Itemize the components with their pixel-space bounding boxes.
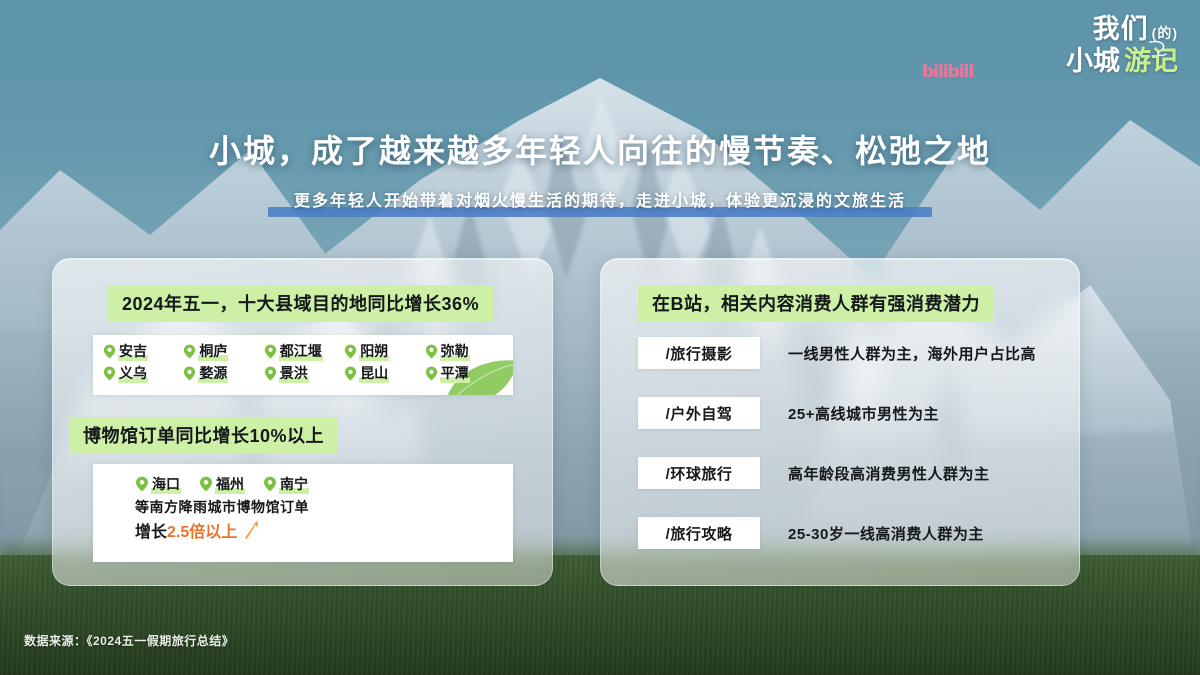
city-chip: 阳朔	[344, 341, 424, 361]
location-pin-icon	[183, 344, 196, 359]
city-name: 安吉	[118, 341, 148, 361]
city-name: 阳朔	[359, 341, 389, 361]
museum-note: 等南方降雨城市博物馆订单	[135, 497, 513, 518]
city-chip: 桐庐	[183, 341, 263, 361]
city-chip: 弥勒	[425, 341, 505, 361]
category-description: 一线男性人群为主，海外用户占比高	[788, 343, 1036, 364]
museum-city-chip: 福州	[199, 474, 245, 494]
audience-row: /环球旅行 高年龄段高消费男性人群为主	[638, 457, 990, 489]
city-name: 义乌	[118, 363, 148, 383]
category-tag: /旅行攻略	[638, 517, 760, 549]
program-logo: bilibili 我们(的) 小城 游记	[1018, 16, 1178, 92]
museum-city-chip: 海口	[135, 474, 181, 494]
city-name: 平潭	[440, 363, 470, 383]
city-chip: 昆山	[344, 363, 424, 383]
location-pin-icon	[344, 366, 357, 381]
logo-women-text: 我们	[1093, 16, 1149, 43]
location-pin-icon	[183, 366, 196, 381]
county-destinations-panel: 安吉 桐庐 都江堰 阳朔 弥勒 义乌 婺源 景洪 昆山 平潭	[93, 335, 513, 395]
bilibili-wordmark: bilibili	[922, 62, 973, 82]
audience-row: /旅行攻略 25-30岁一线高消费人群为主	[638, 517, 984, 549]
right-headline: 在B站，相关内容消费人群有强消费潜力	[638, 285, 994, 322]
subtitle-highlight-bar: 更多年轻人开始带着对烟火慢生活的期待，走进小城，体验更沉浸的文旅生活	[268, 185, 932, 217]
location-pin-icon	[264, 344, 277, 359]
subtitle-container: 更多年轻人开始带着对烟火慢生活的期待，走进小城，体验更沉浸的文旅生活	[0, 185, 1200, 217]
squiggle-decoration-icon	[1146, 38, 1172, 64]
location-pin-icon	[425, 366, 438, 381]
location-pin-icon	[135, 476, 149, 492]
city-name: 弥勒	[440, 341, 470, 361]
category-tag: /旅行摄影	[638, 337, 760, 369]
museum-city-name: 海口	[151, 474, 181, 494]
category-description: 25-30岁一线高消费人群为主	[788, 523, 984, 544]
location-pin-icon	[103, 366, 116, 381]
city-name: 婺源	[198, 363, 228, 383]
city-name: 昆山	[359, 363, 389, 383]
location-pin-icon	[103, 344, 116, 359]
logo-xiaocheng-text: 小城	[1066, 48, 1120, 75]
location-pin-icon	[264, 366, 277, 381]
left-stats-card: 2024年五一，十大县域目的地同比增长36% 安吉 桐庐 都江堰 阳朔 弥勒 义…	[52, 258, 553, 586]
museum-growth: 增长2.5倍以上	[135, 518, 513, 542]
location-pin-icon	[199, 476, 213, 492]
city-name: 桐庐	[198, 341, 228, 361]
city-name: 景洪	[279, 363, 309, 383]
category-tag: /户外自驾	[638, 397, 760, 429]
city-chip: 平潭	[425, 363, 505, 383]
museum-city-list: 海口 福州 南宁	[135, 474, 513, 494]
left-headline-1: 2024年五一，十大县域目的地同比增长36%	[108, 285, 493, 322]
category-description: 25+高线城市男性为主	[788, 403, 939, 424]
location-pin-icon	[344, 344, 357, 359]
city-chip: 义乌	[103, 363, 183, 383]
location-pin-icon	[263, 476, 277, 492]
location-pin-icon	[425, 344, 438, 359]
page-title: 小城，成了越来越多年轻人向往的慢节奏、松弛之地	[0, 126, 1200, 172]
museum-growth-prefix: 增长	[135, 518, 167, 542]
museum-city-chip: 南宁	[263, 474, 309, 494]
museum-city-name: 福州	[215, 474, 245, 494]
city-chip: 婺源	[183, 363, 263, 383]
audience-row: /旅行摄影 一线男性人群为主，海外用户占比高	[638, 337, 1036, 369]
museum-orders-panel: 海口 福州 南宁 等南方降雨城市博物馆订单 增长2.5倍以上	[93, 464, 513, 562]
left-headline-2: 博物馆订单同比增长10%以上	[69, 417, 338, 454]
city-chip: 安吉	[103, 341, 183, 361]
museum-city-name: 南宁	[279, 474, 309, 494]
city-chip: 都江堰	[264, 341, 344, 361]
right-audience-card: 在B站，相关内容消费人群有强消费潜力 /旅行摄影 一线男性人群为主，海外用户占比…	[600, 258, 1080, 586]
data-source-note: 数据来源：《2024五一假期旅行总结》	[24, 632, 234, 649]
category-description: 高年龄段高消费男性人群为主	[788, 463, 990, 484]
audience-row: /户外自驾 25+高线城市男性为主	[638, 397, 939, 429]
city-chip: 景洪	[264, 363, 344, 383]
museum-growth-value: 2.5倍以上	[167, 518, 237, 542]
city-name: 都江堰	[279, 341, 323, 361]
county-city-grid: 安吉 桐庐 都江堰 阳朔 弥勒 义乌 婺源 景洪 昆山 平潭	[93, 335, 513, 387]
category-tag: /环球旅行	[638, 457, 760, 489]
trend-up-arrow-icon	[240, 519, 262, 541]
page-subtitle: 更多年轻人开始带着对烟火慢生活的期待，走进小城，体验更沉浸的文旅生活	[294, 193, 906, 210]
